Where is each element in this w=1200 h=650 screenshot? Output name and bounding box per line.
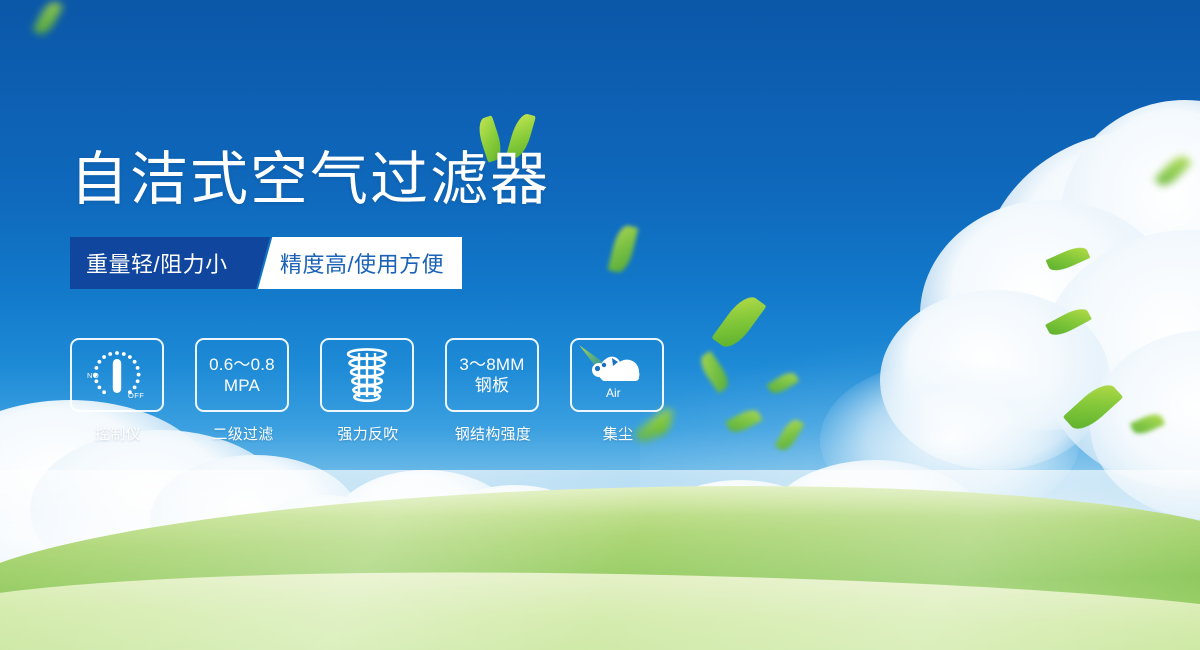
feature-item-steel-strength[interactable]: 3～8MM 钢板 钢结构强度 <box>445 338 541 444</box>
svg-text:NO: NO <box>87 371 99 380</box>
feature-icon-box: 3～8MM 钢板 <box>445 338 539 412</box>
tagline-left-chip: 重量轻/阻力小 <box>70 237 270 289</box>
feature-list: NO OFF 控制仪 0.6～0.8 MPA 二级过滤 <box>70 338 666 444</box>
feature-item-dust-collection[interactable]: Air 集尘 <box>570 338 666 444</box>
steel-material: 钢板 <box>459 375 524 396</box>
feature-item-two-stage-filter[interactable]: 0.6～0.8 MPA 二级过滤 <box>195 338 291 444</box>
feature-icon-box: NO OFF <box>70 338 164 412</box>
feature-label: 集尘 <box>570 423 666 444</box>
grass-field <box>0 470 1200 650</box>
feature-icon-box <box>320 338 414 412</box>
feature-item-control-panel[interactable]: NO OFF 控制仪 <box>70 338 166 444</box>
pressure-value: 0.6～0.8 <box>209 354 275 375</box>
air-label: Air <box>606 386 621 400</box>
feature-label: 二级过滤 <box>195 423 291 444</box>
pressure-unit: MPA <box>209 375 275 396</box>
tagline-bar: 重量轻/阻力小 精度高/使用方便 <box>70 237 462 289</box>
stacked-filter-icon <box>336 345 398 405</box>
air-cloud-icon: Air <box>577 343 657 407</box>
feature-icon-box: Air <box>570 338 664 412</box>
tagline-right-chip: 精度高/使用方便 <box>258 237 462 289</box>
feature-icon-box: 0.6～0.8 MPA <box>195 338 289 412</box>
tagline-left-text: 重量轻/阻力小 <box>86 247 228 279</box>
product-banner: 自洁式空气过滤器 重量轻/阻力小 精度高/使用方便 <box>0 0 1200 650</box>
feature-item-pulse-blowback[interactable]: 强力反吹 <box>320 338 416 444</box>
feature-label: 强力反吹 <box>320 423 416 444</box>
feature-label: 控制仪 <box>70 423 166 444</box>
page-title: 自洁式空气过滤器 <box>70 143 550 217</box>
tagline-right-text: 精度高/使用方便 <box>280 247 444 279</box>
pressure-text-icon: 0.6～0.8 MPA <box>209 354 275 396</box>
svg-text:OFF: OFF <box>128 391 144 400</box>
steel-plate-text-icon: 3～8MM 钢板 <box>459 354 524 396</box>
steel-thickness: 3～8MM <box>459 354 524 375</box>
feature-label: 钢结构强度 <box>445 423 541 444</box>
gauge-dial-icon: NO OFF <box>81 345 153 405</box>
